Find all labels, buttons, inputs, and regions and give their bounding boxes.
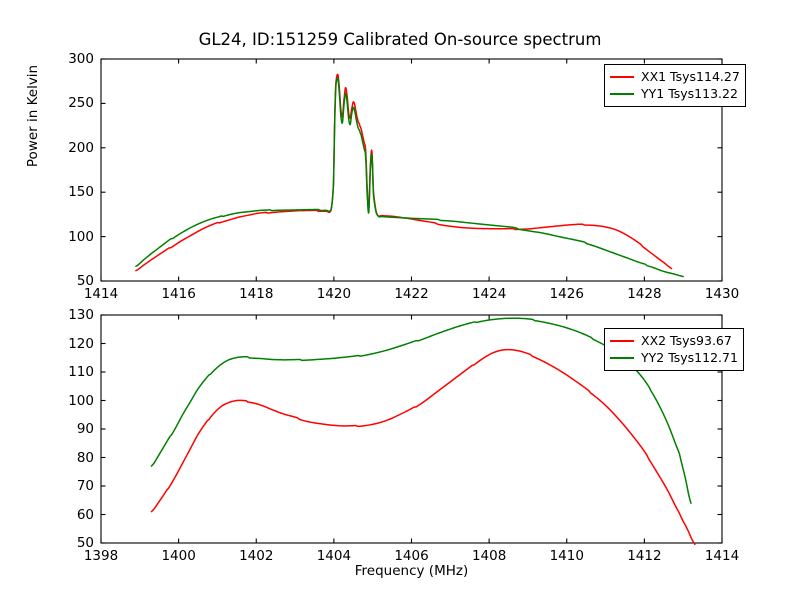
bottom-xtick-1412: 1412 (627, 548, 661, 564)
bottom-panel-legend: XX2 Tsys93.67YY2 Tsys112.71 (604, 328, 744, 371)
top-xtick-1426: 1426 (550, 286, 584, 302)
top-ytick-100: 100 (0, 229, 94, 245)
top-ytick-50: 50 (0, 273, 94, 289)
bottom-legend-entry-1: XX2 Tsys93.67 (610, 332, 738, 349)
bottom-ytick-110: 110 (0, 364, 94, 380)
legend-label: YY1 Tsys113.22 (641, 86, 738, 101)
top-xtick-1422: 1422 (394, 286, 428, 302)
top-ytick-250: 250 (0, 95, 94, 111)
legend-line-swatch (610, 357, 634, 359)
legend-line-swatch (610, 93, 634, 95)
bottom-ytick-70: 70 (0, 478, 94, 494)
bottom-xtick-1404: 1404 (317, 548, 351, 564)
top-xtick-1420: 1420 (317, 286, 351, 302)
top-xtick-1430: 1430 (705, 286, 739, 302)
bottom-ytick-50: 50 (0, 535, 94, 551)
top-ytick-150: 150 (0, 184, 94, 200)
bottom-ytick-120: 120 (0, 336, 94, 352)
bottom-xtick-1414: 1414 (705, 548, 739, 564)
bottom-ytick-80: 80 (0, 450, 94, 466)
figure-canvas: GL24, ID:151259 Calibrated On-source spe… (0, 0, 800, 600)
top-xtick-1424: 1424 (472, 286, 506, 302)
legend-label: XX2 Tsys93.67 (641, 333, 732, 348)
legend-label: YY2 Tsys112.71 (641, 350, 738, 365)
top-xtick-1428: 1428 (627, 286, 661, 302)
bottom-xtick-1400: 1400 (161, 548, 195, 564)
top-ytick-300: 300 (0, 51, 94, 67)
top-xtick-1418: 1418 (239, 286, 273, 302)
legend-label: XX1 Tsys114.27 (641, 69, 740, 84)
top-panel-legend: XX1 Tsys114.27YY1 Tsys113.22 (604, 64, 746, 107)
top-legend-entry-1: XX1 Tsys114.27 (610, 68, 740, 85)
bottom-xtick-1406: 1406 (394, 548, 428, 564)
top-ytick-200: 200 (0, 140, 94, 156)
bottom-ytick-100: 100 (0, 393, 94, 409)
legend-line-swatch (610, 340, 634, 342)
bottom-ytick-130: 130 (0, 307, 94, 323)
bottom-xtick-1402: 1402 (239, 548, 273, 564)
top-xtick-1416: 1416 (161, 286, 195, 302)
bottom-legend-entry-2: YY2 Tsys112.71 (610, 349, 738, 366)
bottom-ytick-90: 90 (0, 421, 94, 437)
top-legend-entry-2: YY1 Tsys113.22 (610, 85, 740, 102)
legend-line-swatch (610, 76, 634, 78)
bottom-ytick-60: 60 (0, 507, 94, 523)
bottom-xtick-1410: 1410 (550, 548, 584, 564)
bottom-xtick-1408: 1408 (472, 548, 506, 564)
